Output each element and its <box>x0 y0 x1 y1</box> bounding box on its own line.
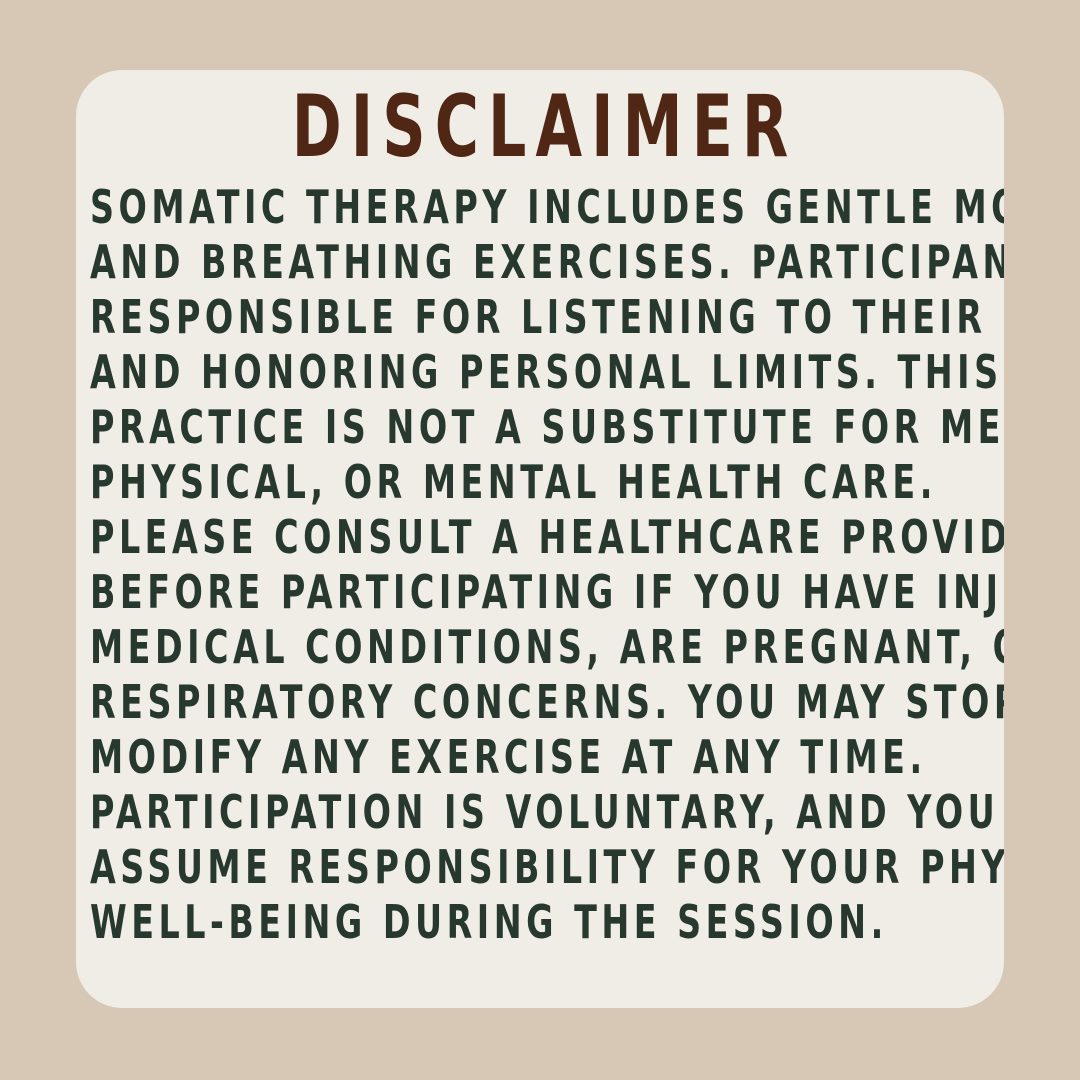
body-line: PRACTICE IS NOT A SUBSTITUTE FOR MEDICAL… <box>90 400 1004 455</box>
body-line: AND HONORING PERSONAL LIMITS. THIS <box>90 345 1004 400</box>
body-line: WELL-BEING DURING THE SESSION. <box>90 895 1004 950</box>
body-line: PARTICIPATION IS VOLUNTARY, AND YOU <box>90 785 1004 840</box>
body-line: MODIFY ANY EXERCISE AT ANY TIME. <box>90 730 1004 785</box>
body-line: RESPIRATORY CONCERNS. YOU MAY STOP OR <box>90 675 1004 730</box>
body-line: SOMATIC THERAPY INCLUDES GENTLE MOVEMENT <box>90 180 1004 235</box>
disclaimer-body: SOMATIC THERAPY INCLUDES GENTLE MOVEMENT… <box>90 180 1004 950</box>
body-line: BEFORE PARTICIPATING IF YOU HAVE INJURIE… <box>90 565 1004 620</box>
disclaimer-card: DISCLAIMER SOMATIC THERAPY INCLUDES GENT… <box>76 70 1004 1008</box>
body-line: ASSUME RESPONSIBILITY FOR YOUR PHYSICAL <box>90 840 1004 895</box>
body-line: PLEASE CONSULT A HEALTHCARE PROVIDER <box>90 510 1004 565</box>
body-line: PHYSICAL, OR MENTAL HEALTH CARE. <box>90 455 1004 510</box>
page-title: DISCLAIMER <box>215 78 865 176</box>
body-line: AND BREATHING EXERCISES. PARTICIPANTS AR… <box>90 235 1004 290</box>
body-line: MEDICAL CONDITIONS, ARE PREGNANT, OR HAV… <box>90 620 1004 675</box>
body-line: RESPONSIBLE FOR LISTENING TO THEIR BODY <box>90 290 1004 345</box>
poster-canvas: DISCLAIMER SOMATIC THERAPY INCLUDES GENT… <box>0 0 1080 1080</box>
